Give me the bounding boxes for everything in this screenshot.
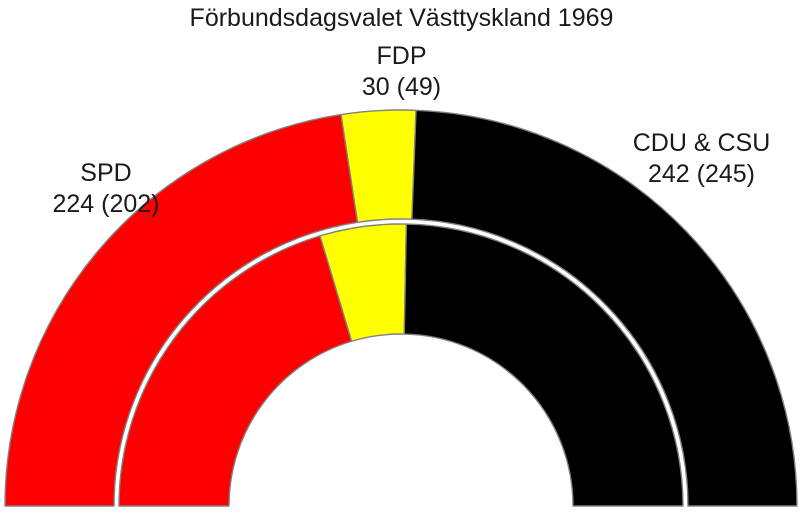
cdu-seat-count: 242 (245) <box>600 159 803 190</box>
segment-label-cdu: CDU & CSU 242 (245) <box>600 128 803 189</box>
cdu-party-name: CDU & CSU <box>600 128 803 159</box>
segment-label-fdp: FDP 30 (49) <box>0 41 803 102</box>
fdp-seat-count: 30 (49) <box>0 72 803 103</box>
parliament-chart: Förbundsdagsvalet Västtyskland 1969 FDP … <box>0 0 803 512</box>
spd-seat-count: 224 (202) <box>6 189 206 220</box>
segment-label-spd: SPD 224 (202) <box>6 158 206 219</box>
chart-title: Förbundsdagsvalet Västtyskland 1969 <box>0 4 803 34</box>
fdp-party-name: FDP <box>0 41 803 72</box>
spd-party-name: SPD <box>6 158 206 189</box>
